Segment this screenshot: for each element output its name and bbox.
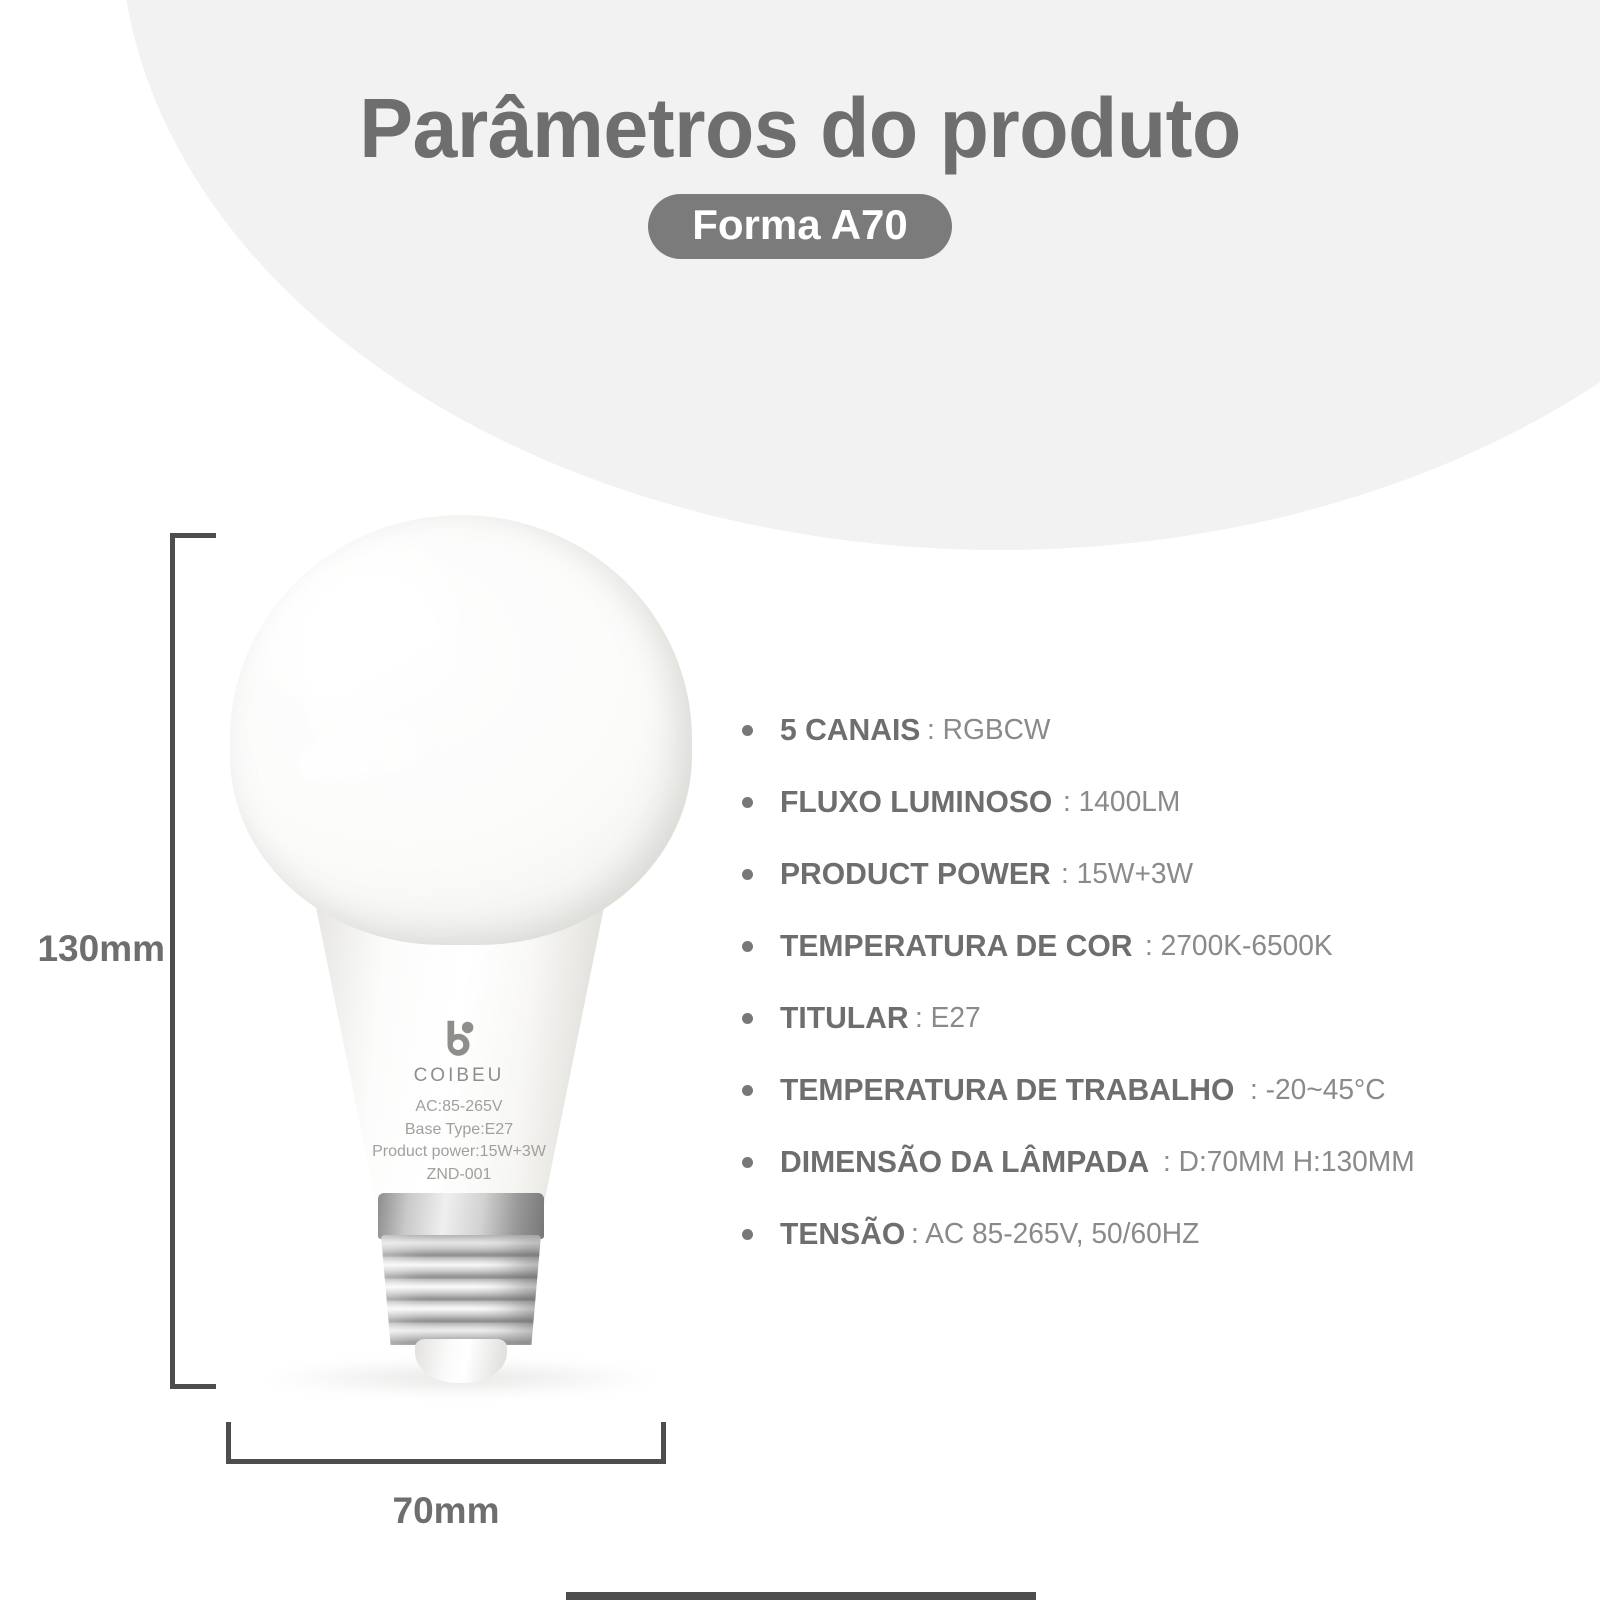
spec-value: : 15W+3W (1061, 858, 1193, 891)
list-item: TEMPERATURA DE COR : 2700K-6500K (736, 910, 1576, 982)
bullet-icon (742, 725, 753, 736)
spec-label: TENSÃO (780, 1216, 905, 1252)
spec-value: : E27 (915, 1002, 981, 1035)
list-item: TITULAR : E27 (736, 982, 1576, 1054)
list-item: DIMENSÃO DA LÂMPADA : D:70MM H:130MM (736, 1126, 1576, 1198)
width-dimension-bracket (226, 1422, 666, 1464)
spec-label: PRODUCT POWER (780, 856, 1051, 892)
spec-label: FLUXO LUMINOSO (780, 784, 1052, 820)
bullet-icon (742, 797, 753, 808)
base-collar (378, 1193, 544, 1239)
product-parameters-page: Parâmetros do produto Forma A70 130mm 70… (0, 0, 1600, 1600)
bullet-icon (742, 1013, 753, 1024)
spec-value: : -20~45°C (1250, 1074, 1386, 1107)
list-item: 5 CANAIS : RGBCW (736, 694, 1576, 766)
shape-badge: Forma A70 (648, 194, 952, 259)
bulb-globe (230, 515, 692, 945)
base-screw-threads (381, 1235, 541, 1345)
spec-value: : 2700K-6500K (1145, 930, 1333, 963)
bulb-e27-screw-base (373, 1193, 549, 1385)
spec-label: TEMPERATURA DE COR (780, 928, 1132, 964)
base-insulator-tip (415, 1339, 507, 1383)
spec-value: : D:70MM H:130MM (1163, 1146, 1415, 1179)
page-title: Parâmetros do produto (32, 0, 1568, 170)
height-dimension-label: 130mm (30, 928, 165, 970)
header: Parâmetros do produto Forma A70 (0, 0, 1600, 259)
bullet-icon (742, 1157, 753, 1168)
height-dimension-bracket (170, 533, 216, 1389)
bullet-icon (742, 1085, 753, 1096)
bullet-icon (742, 941, 753, 952)
list-item: FLUXO LUMINOSO : 1400LM (736, 766, 1576, 838)
bullet-icon (742, 1229, 753, 1240)
bullet-icon (742, 869, 753, 880)
spec-value: : RGBCW (927, 714, 1050, 747)
list-item: TEMPERATURA DE TRABALHO : -20~45°C (736, 1054, 1576, 1126)
list-item: PRODUCT POWER : 15W+3W (736, 838, 1576, 910)
spec-value: : 1400LM (1063, 786, 1180, 819)
specification-list: 5 CANAIS : RGBCW FLUXO LUMINOSO : 1400LM… (736, 694, 1576, 1270)
spec-label: DIMENSÃO DA LÂMPADA (780, 1144, 1149, 1180)
bottom-edge-bar (566, 1592, 1036, 1600)
led-bulb-image: COIBEU AC:85-265V Base Type:E27 Product … (225, 515, 695, 1385)
spec-label: TITULAR (780, 1000, 909, 1036)
width-dimension-label: 70mm (226, 1490, 666, 1532)
spec-label: 5 CANAIS (780, 712, 920, 748)
list-item: TENSÃO : AC 85-265V, 50/60HZ (736, 1198, 1576, 1270)
spec-label: TEMPERATURA DE TRABALHO (780, 1072, 1234, 1108)
spec-value: : AC 85-265V, 50/60HZ (911, 1218, 1199, 1251)
